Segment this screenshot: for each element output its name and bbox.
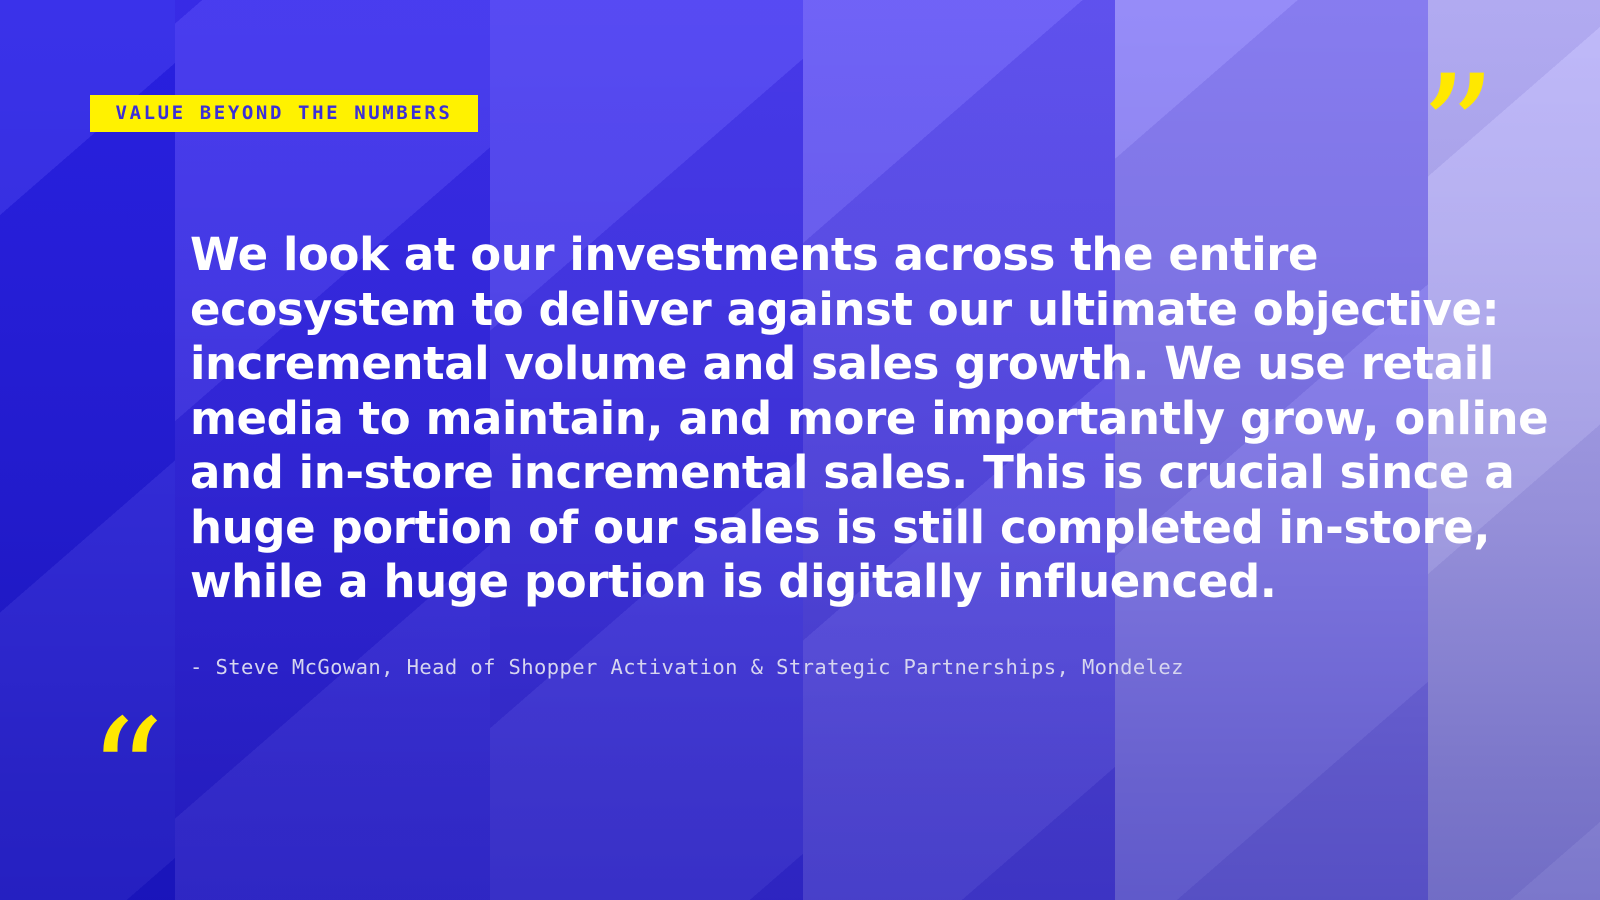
quote-line: while a huge portion is digitally influe… [190,555,1450,610]
quote-line: We look at our investments across the en… [190,228,1450,283]
quote-line: huge portion of our sales is still compl… [190,501,1450,556]
quote-line: ecosystem to deliver against our ultimat… [190,283,1450,338]
quote-card: VALUE BEYOND THE NUMBERS ” We look at ou… [0,0,1600,900]
opening-quote-mark-icon: “ [88,700,165,850]
quote-line: incremental volume and sales growth. We … [190,337,1450,392]
quote-line: and in-store incremental sales. This is … [190,446,1450,501]
quote-line: media to maintain, and more importantly … [190,392,1450,447]
pull-quote: We look at our investments across the en… [190,228,1450,610]
eyebrow-badge-label: VALUE BEYOND THE NUMBERS [116,104,453,123]
quote-attribution: - Steve McGowan, Head of Shopper Activat… [190,654,1184,681]
closing-quote-mark-icon: ” [1419,56,1496,206]
eyebrow-badge: VALUE BEYOND THE NUMBERS [90,95,478,132]
